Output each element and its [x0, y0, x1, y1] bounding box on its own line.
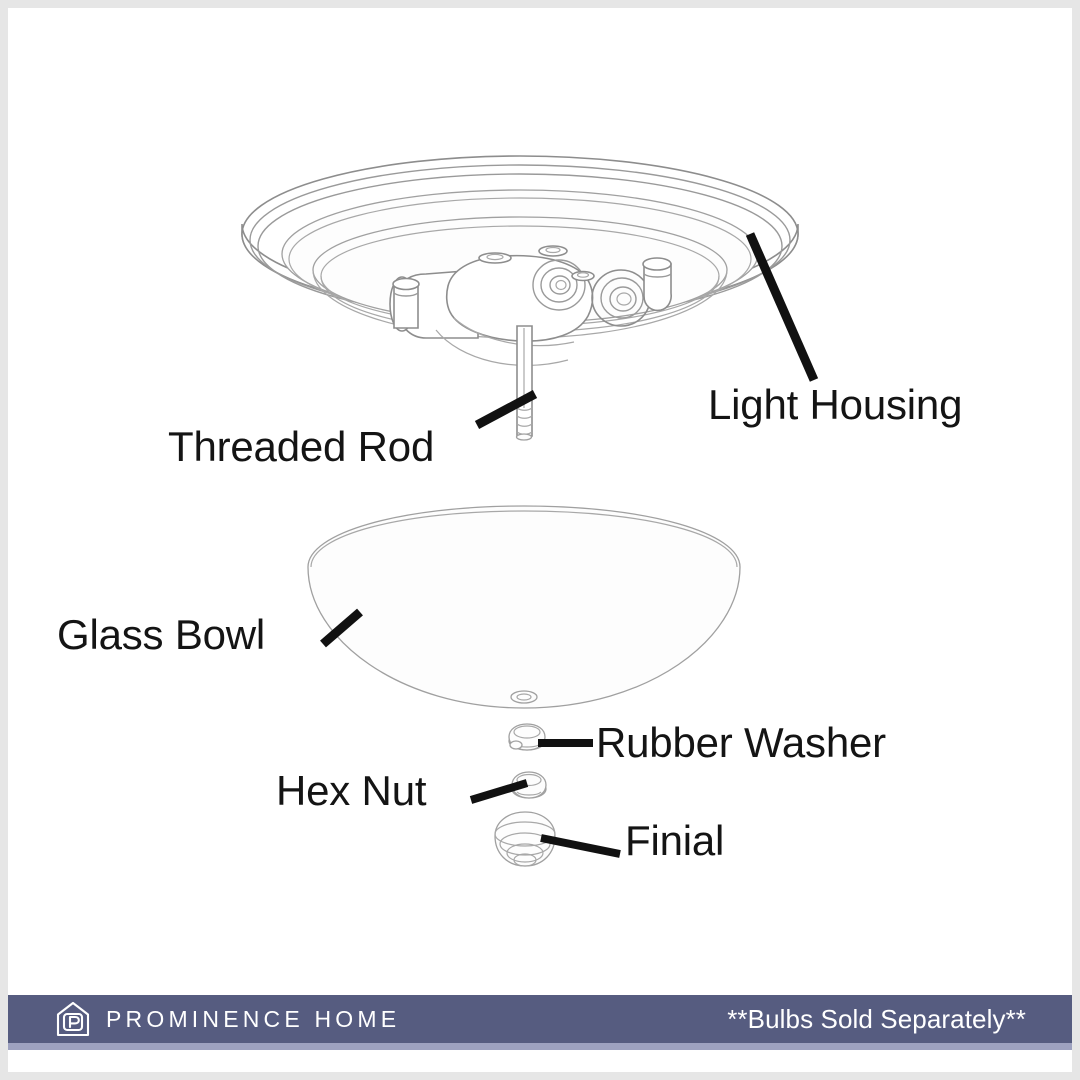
footer-accent-underline — [8, 1043, 1072, 1050]
brand-name: PROMINENCE HOME — [106, 1006, 400, 1033]
glass-bowl-part — [308, 506, 740, 708]
part-label-threaded-rod: Threaded Rod — [168, 426, 434, 468]
part-label-hex-nut: Hex Nut — [276, 770, 426, 812]
part-label-light-housing: Light Housing — [708, 384, 962, 426]
part-label-finial: Finial — [625, 820, 724, 862]
brand-lockup: PROMINENCE HOME — [56, 1001, 400, 1037]
part-label-rubber-washer: Rubber Washer — [596, 722, 886, 764]
part-label-glass-bowl: Glass Bowl — [57, 614, 265, 656]
page-root: Light Housing Threaded Rod Glass Bowl Ru… — [0, 0, 1080, 1080]
parts-diagram — [8, 8, 1072, 1072]
house-logo-icon — [56, 1001, 90, 1037]
threaded-rod-part — [517, 326, 533, 440]
footer-bar: PROMINENCE HOME **Bulbs Sold Separately*… — [8, 995, 1072, 1043]
footer-note: **Bulbs Sold Separately** — [727, 1004, 1026, 1035]
